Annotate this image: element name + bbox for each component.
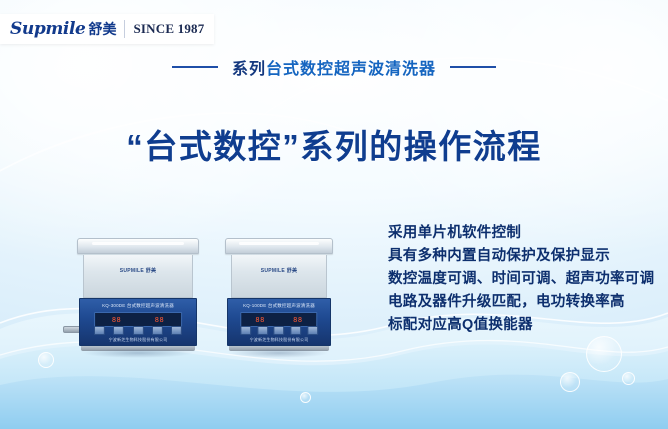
machine-lid: [77, 238, 199, 254]
control-panel: KQ-300DE 台式数控超声波清洗器 88 88 宁波新芝生物科技股份有限公司: [79, 298, 197, 346]
subtitle-rule-left: [172, 66, 218, 68]
panel-key[interactable]: [132, 326, 143, 335]
tank-brand-label: SUPMILE 舒美: [84, 267, 192, 274]
machine-shadow: [82, 348, 194, 358]
brand-logo-bar: Supmile 舒美 SINCE 1987: [0, 14, 214, 44]
tank-brand-label: SUPMILE 舒美: [232, 267, 326, 274]
panel-key[interactable]: [113, 326, 124, 335]
panel-key[interactable]: [171, 326, 182, 335]
subtitle-row: 系列台式数控超声波清洗器: [0, 55, 668, 79]
display-value-right: 88: [155, 316, 164, 324]
panel-key[interactable]: [240, 326, 251, 335]
list-item: 标配对应高Q值换能器: [388, 314, 654, 337]
machine-tank: SUPMILE 舒美: [231, 255, 327, 298]
product-images: SUPMILE 舒美 KQ-300DE 台式数控超声波清洗器 88 88 宁波新…: [55, 211, 375, 351]
panel-manufacturer-label: 宁波新芝生物科技股份有限公司: [228, 337, 330, 343]
panel-model-label: KQ-100DE 台式数控超声波清洗器: [228, 303, 330, 309]
display-value-right: 88: [293, 316, 302, 324]
list-item: 具有多种内置自动保护及保护显示: [388, 245, 654, 268]
slide-canvas: Supmile 舒美 SINCE 1987 系列台式数控超声波清洗器 “台式数控…: [0, 0, 668, 429]
brand-since-label: SINCE 1987: [125, 14, 214, 44]
digital-display: 88 88: [94, 312, 182, 327]
list-item: 电路及器件升级匹配，电功转换率高: [388, 291, 654, 314]
panel-key[interactable]: [307, 326, 318, 335]
subtitle-highlight: 台式数控超声波清洗器: [266, 61, 436, 78]
page-title: “台式数控”系列的操作流程: [0, 120, 668, 168]
display-value-left: 88: [112, 316, 121, 324]
machine-tank: SUPMILE 舒美: [83, 255, 193, 298]
desktop-ultrasonic-cleaner-small: SUPMILE 舒美 KQ-100DE 台式数控超声波清洗器 88 88 宁波新…: [225, 238, 333, 351]
subtitle-rule-right: [450, 66, 496, 68]
panel-key[interactable]: [257, 326, 268, 335]
machine-shadow: [229, 348, 328, 358]
list-item: 数控温度可调、时间可调、超声功率可调: [388, 268, 654, 291]
brand-name-cn: 舒美: [88, 19, 116, 39]
panel-key[interactable]: [152, 326, 163, 335]
control-panel: KQ-100DE 台式数控超声波清洗器 88 88 宁波新芝生物科技股份有限公司: [227, 298, 331, 346]
panel-key[interactable]: [94, 326, 105, 335]
display-value-left: 88: [255, 316, 264, 324]
feature-list: 采用单片机软件控制 具有多种内置自动保护及保护显示 数控温度可调、时间可调、超声…: [388, 222, 654, 337]
panel-manufacturer-label: 宁波新芝生物科技股份有限公司: [80, 337, 196, 343]
subtitle-prefix: 系列: [232, 61, 266, 78]
machine-lid: [225, 238, 333, 254]
desktop-ultrasonic-cleaner-large: SUPMILE 舒美 KQ-300DE 台式数控超声波清洗器 88 88 宁波新…: [77, 238, 199, 351]
subtitle: 系列台式数控超声波清洗器: [232, 55, 436, 79]
panel-model-label: KQ-300DE 台式数控超声波清洗器: [80, 303, 196, 309]
brand-name-en: Supmile: [10, 19, 85, 39]
panel-key[interactable]: [290, 326, 301, 335]
brand-mark: Supmile 舒美: [0, 14, 124, 44]
panel-key[interactable]: [273, 326, 284, 335]
panel-keypad[interactable]: [240, 326, 318, 335]
list-item: 采用单片机软件控制: [388, 222, 654, 245]
digital-display: 88 88: [240, 312, 317, 327]
panel-keypad[interactable]: [94, 326, 182, 335]
